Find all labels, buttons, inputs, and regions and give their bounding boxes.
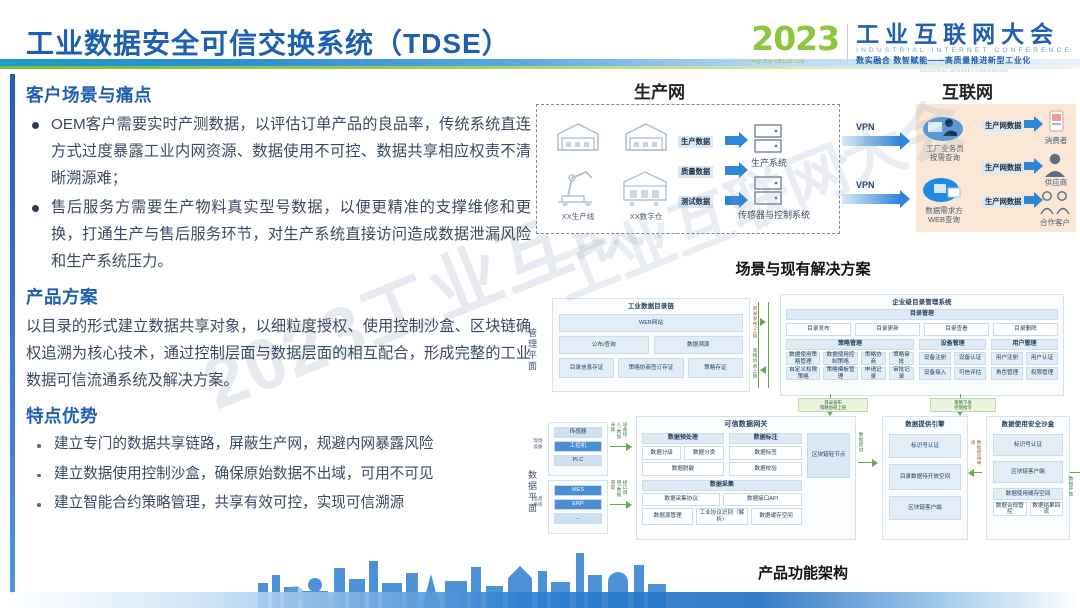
device-group-label: 现场 设备 <box>528 438 548 449</box>
list-item: 建立智能合约策略管理，共享有效可控，实现可信溯源 <box>26 491 531 517</box>
user-item: 角色管理 <box>991 367 1023 380</box>
warehouse-icon <box>620 164 670 206</box>
gateway-item: 数据源管理 <box>642 508 693 525</box>
gateway-item: 数据采集协议 <box>642 493 720 506</box>
catalog-chain-cell: 公布/查询 <box>559 336 649 354</box>
device-item: 设备注册 <box>919 352 951 365</box>
logo-year: 2023 <box>751 22 839 55</box>
sandbox-item: 区块链客户端 <box>993 461 1063 483</box>
system-label: 生产系统 <box>740 158 798 169</box>
logo-text-block: 工业互联网大会 INDUSTRIAL INTERNET CONFERENCE 数… <box>856 22 1072 73</box>
policy-item: 数据使用控制策略 <box>823 352 857 365</box>
policy-item: 自定义权限策略 <box>786 367 820 380</box>
gateway-item: 数据分级 <box>642 446 681 460</box>
section-header: 目录管理 <box>786 309 1058 320</box>
policy-item: 数据使用策略管理 <box>786 352 820 365</box>
provider-item: 区块链客户端 <box>889 496 961 520</box>
section-header: 数据预处理 <box>642 433 724 444</box>
system-box: MES <box>554 485 602 496</box>
vpn-label: VPN <box>856 180 875 190</box>
page-title: 工业数据安全可信交换系统（TDSE） <box>26 22 511 62</box>
conference-logo: 2023 中国·贵州 5月11日-13日 工业互联网大会 INDUSTRIAL … <box>751 22 1072 74</box>
enterprise-catalog-title: 企业级目录管理系统 <box>781 295 1063 308</box>
device-item: 可信评估 <box>954 367 986 380</box>
dataflow-label: 测试数据 <box>678 196 713 208</box>
catalog-item: 目录更新 <box>855 323 920 336</box>
slide-root: 工业数据安全可信交换系统（TDSE） 2023 中国·贵州 5月11日-13日 … <box>0 0 1080 608</box>
net-data-label: 生产网数据 <box>982 162 1024 174</box>
bottom-color-band <box>0 592 1080 608</box>
flow-arrow-icon <box>760 366 766 374</box>
dataflow-label: 生产数据 <box>678 136 713 148</box>
device-box: 传感器 <box>554 427 602 438</box>
catalog-item: 目录删除 <box>993 323 1058 336</box>
flow-arrow <box>725 166 739 175</box>
catalog-chain-cell: 策略协商签订存证 <box>618 358 684 378</box>
flow-arrow-icon <box>760 318 766 326</box>
vpn-arrow <box>842 194 900 204</box>
flow-arrow-icon <box>872 459 878 467</box>
net-data-label: 生产网数据 <box>982 196 1024 208</box>
provider-item: 标识号认证 <box>889 434 961 458</box>
flow-arrow-icon <box>968 469 974 477</box>
gateway-item: 数据校验 <box>729 462 803 476</box>
section-header: 数据采集 <box>642 480 802 491</box>
enterprise-catalog-panel: 企业级目录管理系统 目录管理 目录发布 目录更新 目录查看 目录删除 策略管理 … <box>780 294 1064 396</box>
flow-tag: 目录发布 策略协商上链 <box>798 398 868 412</box>
section-heading-features: 特点优势 <box>26 403 531 428</box>
section-header: 数据标注 <box>729 433 803 444</box>
system-box: … <box>554 513 602 524</box>
provider-engine-title: 数据提供引擎 <box>883 417 967 430</box>
net-data-label: 生产网数据 <box>982 120 1024 132</box>
flow-label: 策略协商上链 <box>752 348 758 386</box>
vpn-arrow <box>842 136 900 146</box>
sandbox-panel: 数据使用安全沙盒 标识号认证 区块链客户端 数据使用缓存空间 数据合规管控 数据… <box>986 416 1070 540</box>
solution-paragraph: 以目录的形式建立数据共享对象，以细粒度授权、使用控制沙盒、区块链确权追溯为核心技… <box>26 313 531 394</box>
staff-query-icon <box>922 112 964 142</box>
flow-arrow <box>1024 120 1034 128</box>
gateway-item: 数据接口API <box>723 493 801 506</box>
logo-name-en: INDUSTRIAL INTERNET CONFERENCE <box>856 46 1072 55</box>
system-box: ERP <box>554 499 602 510</box>
source-label: XX数字仓 <box>614 212 678 221</box>
gateway-item: 数据标签 <box>729 446 803 460</box>
device-item: 设备认证 <box>954 352 986 365</box>
list-item: 建立专门的数据共享链路，屏蔽生产网，规避内网暴露风险 <box>26 432 531 458</box>
factory-icon <box>556 120 600 152</box>
consumer-label: 供应商 <box>1028 178 1080 187</box>
logo-year-block: 2023 中国·贵州 5月11日-13日 <box>751 22 839 65</box>
content-column-left: 客户场景与痛点 OEM客户需要实时产测数据，以评估订单产品的良品率，传统系统直连… <box>26 82 531 521</box>
flow-label: 目录发布/上链 <box>752 306 758 346</box>
flow-line <box>1070 472 1080 473</box>
consumer-label: 合作客户 <box>1024 218 1080 227</box>
flow-arrow <box>725 136 739 145</box>
plane-label-data: 数据平面 <box>526 452 539 532</box>
gateway-item: 数据缓存空间 <box>751 508 802 525</box>
catalog-chain-cell: 目录信息存证 <box>559 358 614 378</box>
factory-icon <box>624 120 668 152</box>
server-icon <box>752 174 784 208</box>
list-item: 售后服务方需要生产物料真实型号数据，以便更精准的支撑维修和更换，打通生产与售后服… <box>26 194 531 275</box>
content-column-right: 生产网 互联网 <box>530 76 1076 583</box>
section-header: 策略管理 <box>786 339 914 350</box>
trusted-gateway-panel: 可信数据网关 数据预处理 数据分级 数据分类 数据脱敏 数据标注 数据标签 数据… <box>636 416 856 540</box>
plane-label-management: 管理平面 <box>526 310 539 390</box>
sandbox-item: 标识号认证 <box>993 434 1063 456</box>
source-label: XX生产线 <box>546 212 610 221</box>
sandbox-subitem: 数据合规管控 <box>993 502 1027 516</box>
sandbox-title: 数据使用安全沙盒 <box>987 417 1069 430</box>
scenario-diagram: 生产网 互联网 <box>530 78 1076 246</box>
user-item: 用户认证 <box>1026 352 1058 365</box>
flow-label: 设备接入/数据采集 <box>610 422 628 444</box>
policy-item: 策略审批 <box>889 352 914 365</box>
gateway-title: 可信数据网关 <box>637 417 855 431</box>
logo-name-cn: 工业互联网大会 <box>856 22 1072 46</box>
catalog-chain-title: 工业数据目录链 <box>553 299 749 312</box>
section-header: 设备管理 <box>919 339 986 350</box>
consumer-left-label: 数据需求方 WEB查询 <box>914 206 974 225</box>
flow-line <box>768 302 769 388</box>
architecture-diagram: 管理平面 数据平面 工业数据目录链 WEB网站 公布/查询 数据溯源 目录信息存… <box>530 282 1076 582</box>
web-query-icon <box>922 174 964 204</box>
feature-list: 建立专门的数据共享链路，屏蔽生产网，规避内网暴露风险 建立数据使用控制沙盒，确保… <box>26 432 531 517</box>
device-group-label: 信息 系统 <box>528 496 548 507</box>
blockchain-node-box: 区块链轻节点 <box>807 433 850 478</box>
catalog-chain-cell: 策略存证 <box>688 358 743 378</box>
device-box: 工控机 <box>554 441 602 452</box>
flow-arrow <box>1024 162 1034 170</box>
pain-point-list: OEM客户需要实时产测数据，以评估订单产品的良品率，传统系统直连方式过度暴露工业… <box>26 111 531 275</box>
provider-item: 目录数据待开放空间 <box>889 464 961 490</box>
left-accent-bar <box>10 74 15 594</box>
supplier-person-icon <box>1044 152 1068 178</box>
flow-label: 数据使用申请 <box>970 440 982 466</box>
list-item: OEM客户需要实时产测数据，以评估订单产品的良品率，传统系统直连方式过度暴露工业… <box>26 111 531 192</box>
flow-tag: 策略下发 控制指令 <box>930 398 996 412</box>
info-system-group: MES ERP … <box>548 480 608 534</box>
logo-year-subtitle: 中国·贵州 5月11日-13日 <box>751 59 839 65</box>
vpn-label: VPN <box>856 122 875 132</box>
gateway-item: 数据分类 <box>684 446 723 460</box>
consumer-left-label: 工厂业务员 按需查询 <box>916 144 974 163</box>
dataflow-label: 质量数据 <box>678 166 713 178</box>
flow-label: 数据提供 <box>858 432 864 458</box>
user-item: 用户注册 <box>991 352 1023 365</box>
catalog-chain-panel: 工业数据目录链 WEB网站 公布/查询 数据溯源 目录信息存证 策略协商签订存证… <box>552 298 750 392</box>
flow-arrow <box>725 196 739 205</box>
server-icon <box>752 122 784 156</box>
policy-item: 审批记录 <box>889 367 914 380</box>
catalog-item: 目录发布 <box>786 323 851 336</box>
catalog-chain-cell: WEB网站 <box>559 314 743 332</box>
section-heading-solution: 产品方案 <box>26 284 531 309</box>
list-item: 建立数据使用控制沙盒，确保原始数据不出域，可用不可见 <box>26 462 531 488</box>
zone-label-production: 生产网 <box>634 78 685 103</box>
catalog-item: 目录查看 <box>924 323 989 336</box>
logo-slogan: 数实融合 数智赋能——高质量推进新型工业化 <box>856 55 1072 67</box>
sandbox-subitem: 数据结果回流 <box>1030 502 1064 516</box>
flow-arrow-icon <box>626 501 632 509</box>
device-box: PLC <box>554 455 602 466</box>
robot-arm-icon <box>552 164 602 206</box>
device-item: 设备接入 <box>919 367 951 380</box>
gateway-item: 数据脱敏 <box>642 462 724 476</box>
mobile-phone-icon <box>1044 110 1068 132</box>
system-label: 传感器与控制系统 <box>726 210 822 221</box>
user-item: 权限管理 <box>1026 367 1058 380</box>
flow-arrow-icon <box>626 443 632 451</box>
flow-arrow <box>1024 196 1034 204</box>
logo-divider <box>847 24 848 64</box>
partner-people-icon <box>1038 190 1072 216</box>
catalog-chain-cell: 数据溯源 <box>654 336 744 354</box>
flow-label: 接口调用/数据获取 <box>610 480 628 502</box>
gateway-item: 工业协议识别（解析） <box>696 508 747 525</box>
flow-label: 数据开放 <box>1068 476 1074 500</box>
sandbox-item: 数据使用缓存空间 <box>993 488 1063 500</box>
policy-item: 申请记录 <box>861 367 886 380</box>
scenario-caption: 场景与现有解决方案 <box>530 258 1076 279</box>
section-header: 用户管理 <box>991 339 1058 350</box>
policy-item: 策略模板管理 <box>823 367 857 380</box>
zone-label-internet: 互联网 <box>942 78 993 103</box>
provider-engine-panel: 数据提供引擎 标识号认证 目录数据待开放空间 区块链客户端 <box>882 416 968 540</box>
section-heading-pain: 客户场景与痛点 <box>26 82 531 107</box>
field-device-group: 传感器 工控机 PLC <box>548 422 608 476</box>
policy-item: 策略协商 <box>861 352 886 365</box>
logo-tiny-text: INDUSTRIAL INTERNET CONFERENCE <box>856 68 1072 73</box>
consumer-label: 消费者 <box>1028 136 1080 145</box>
flow-line <box>758 302 759 388</box>
